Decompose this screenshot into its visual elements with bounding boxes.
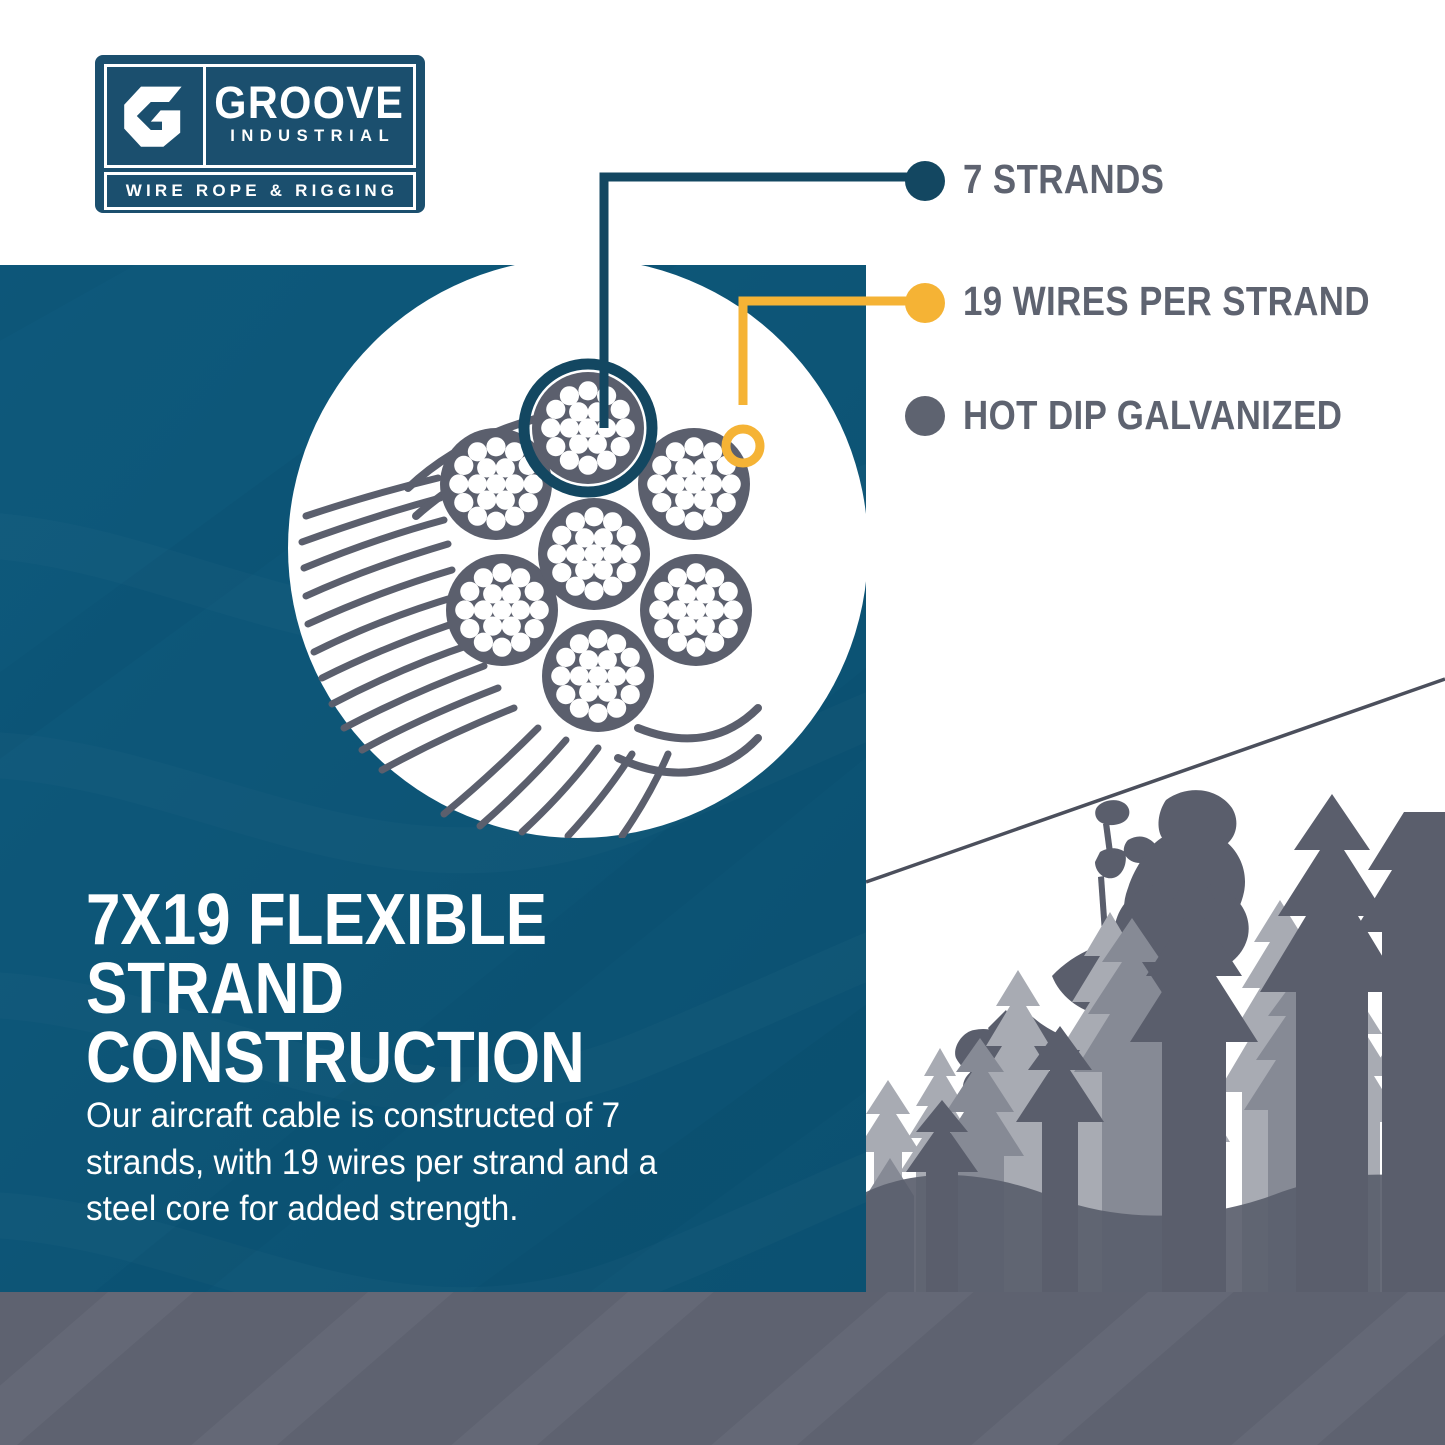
headline-block: 7X19 FLEXIBLE STRAND CONSTRUCTION <box>86 886 846 1093</box>
bottom-bar-stripes <box>0 1292 1445 1445</box>
page-title: 7X19 FLEXIBLE STRAND CONSTRUCTION <box>86 886 740 1093</box>
infographic-canvas: GROOVE INDUSTRIAL WIRE ROPE & RIGGING <box>0 0 1445 1445</box>
headline-line-2: STRAND CONSTRUCTION <box>86 955 740 1093</box>
zipline-scene <box>866 0 1445 1292</box>
headline-line-1: 7X19 FLEXIBLE <box>86 886 740 955</box>
bottom-accent-bar <box>0 1292 1445 1445</box>
body-description: Our aircraft cable is constructed of 7 s… <box>86 1093 713 1233</box>
